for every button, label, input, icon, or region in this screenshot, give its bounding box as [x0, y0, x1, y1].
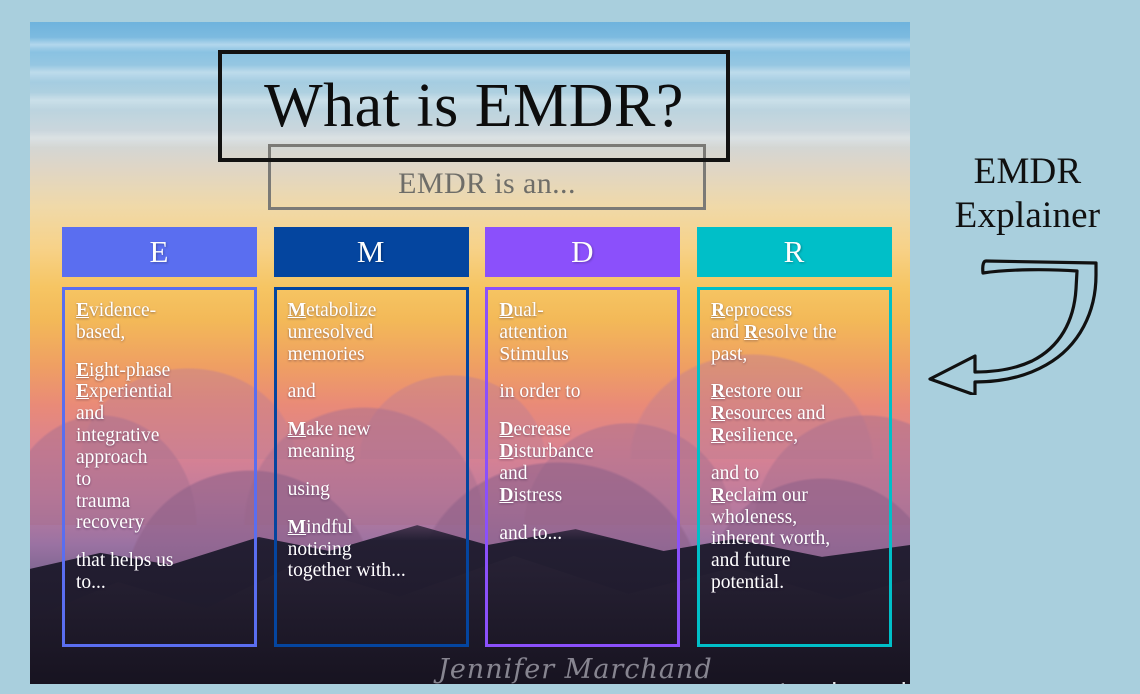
text-line: Make new — [288, 419, 458, 441]
text-line: Mindful — [288, 517, 458, 539]
text-line: Resilience, — [711, 425, 881, 447]
column-text-m: MetabolizeunresolvedmemoriesandMake newm… — [274, 287, 469, 647]
emdr-column-e: EEvidence-based,Eight-phaseExperientiala… — [62, 227, 257, 647]
text-line: meaning — [288, 441, 458, 463]
paragraph-spacer — [288, 403, 458, 419]
text-line: Eight-phase — [76, 360, 246, 382]
emdr-column-d: DDual-attentionStimulusin order toDecrea… — [485, 227, 680, 647]
text-line: Evidence- — [76, 300, 246, 322]
annotation-title-line1: EMDR — [920, 150, 1135, 194]
paragraph-spacer — [711, 447, 881, 463]
paragraph-spacer — [499, 403, 669, 419]
text-line: together with... — [288, 560, 458, 582]
text-line: Restore our — [711, 381, 881, 403]
title-box: What is EMDR? — [218, 50, 730, 162]
paragraph-spacer — [76, 534, 246, 550]
page-title: What is EMDR? — [264, 75, 684, 137]
text-line: past, — [711, 344, 881, 366]
text-line: to — [76, 469, 246, 491]
text-line: and — [288, 381, 458, 403]
text-line: Resources and — [711, 403, 881, 425]
paragraph-spacer — [288, 501, 458, 517]
text-line: memories — [288, 344, 458, 366]
paragraph-spacer — [76, 344, 246, 360]
emdr-column-r: RReprocessand Resolve thepast,Restore ou… — [697, 227, 892, 647]
text-line: in order to — [499, 381, 669, 403]
paragraph-spacer — [499, 365, 669, 381]
text-line: Metabolize — [288, 300, 458, 322]
paragraph-spacer — [288, 463, 458, 479]
text-line: noticing — [288, 539, 458, 561]
text-line: Dual- — [499, 300, 669, 322]
paragraph-spacer — [288, 365, 458, 381]
text-line: and — [76, 403, 246, 425]
text-line: Stimulus — [499, 344, 669, 366]
annotation-title-line2: Explainer — [920, 194, 1135, 238]
column-text-r: Reprocessand Resolve thepast,Restore our… — [697, 287, 892, 647]
text-line: recovery — [76, 512, 246, 534]
text-line: using — [288, 479, 458, 501]
curved-arrow-down-left-icon — [920, 255, 1135, 395]
paragraph-spacer — [499, 507, 669, 523]
text-line: Distress — [499, 485, 669, 507]
text-line: that helps us — [76, 550, 246, 572]
emdr-column-m: MMetabolizeunresolvedmemoriesandMake new… — [274, 227, 469, 647]
emdr-acronym-columns: EEvidence-based,Eight-phaseExperientiala… — [62, 227, 892, 647]
text-line: unresolved — [288, 322, 458, 344]
column-letter-r: R — [697, 227, 892, 277]
text-line: based, — [76, 322, 246, 344]
paragraph-spacer — [711, 365, 881, 381]
emdr-poster-image: What is EMDR? EMDR is an... EEvidence-ba… — [30, 22, 910, 684]
text-line: trauma — [76, 491, 246, 513]
text-line: to... — [76, 572, 246, 594]
text-line: wholeness, — [711, 507, 881, 529]
text-line: approach — [76, 447, 246, 469]
column-text-d: Dual-attentionStimulusin order toDecreas… — [485, 287, 680, 647]
poster-page: What is EMDR? EMDR is an... EEvidence-ba… — [0, 0, 1140, 694]
text-line: Experiential — [76, 381, 246, 403]
text-line: and future — [711, 550, 881, 572]
text-line: and to... — [499, 523, 669, 545]
text-line: attention — [499, 322, 669, 344]
text-line: Reprocess — [711, 300, 881, 322]
annotation-panel: EMDR Explainer — [920, 150, 1135, 400]
column-text-e: Evidence-based,Eight-phaseExperientialan… — [62, 287, 257, 647]
text-line: and Resolve the — [711, 322, 881, 344]
text-line: and — [499, 463, 669, 485]
column-letter-e: E — [62, 227, 257, 277]
text-line: Reclaim our — [711, 485, 881, 507]
text-line: inherent worth, — [711, 528, 881, 550]
text-line: and to — [711, 463, 881, 485]
text-line: potential. — [711, 572, 881, 594]
watermark-website-url: www.naturebasedemdr.com — [680, 678, 910, 684]
text-line: Disturbance — [499, 441, 669, 463]
text-line: Decrease — [499, 419, 669, 441]
column-letter-m: M — [274, 227, 469, 277]
watermark-signature: Jennifer Marchand — [438, 654, 713, 684]
column-letter-d: D — [485, 227, 680, 277]
text-line: integrative — [76, 425, 246, 447]
